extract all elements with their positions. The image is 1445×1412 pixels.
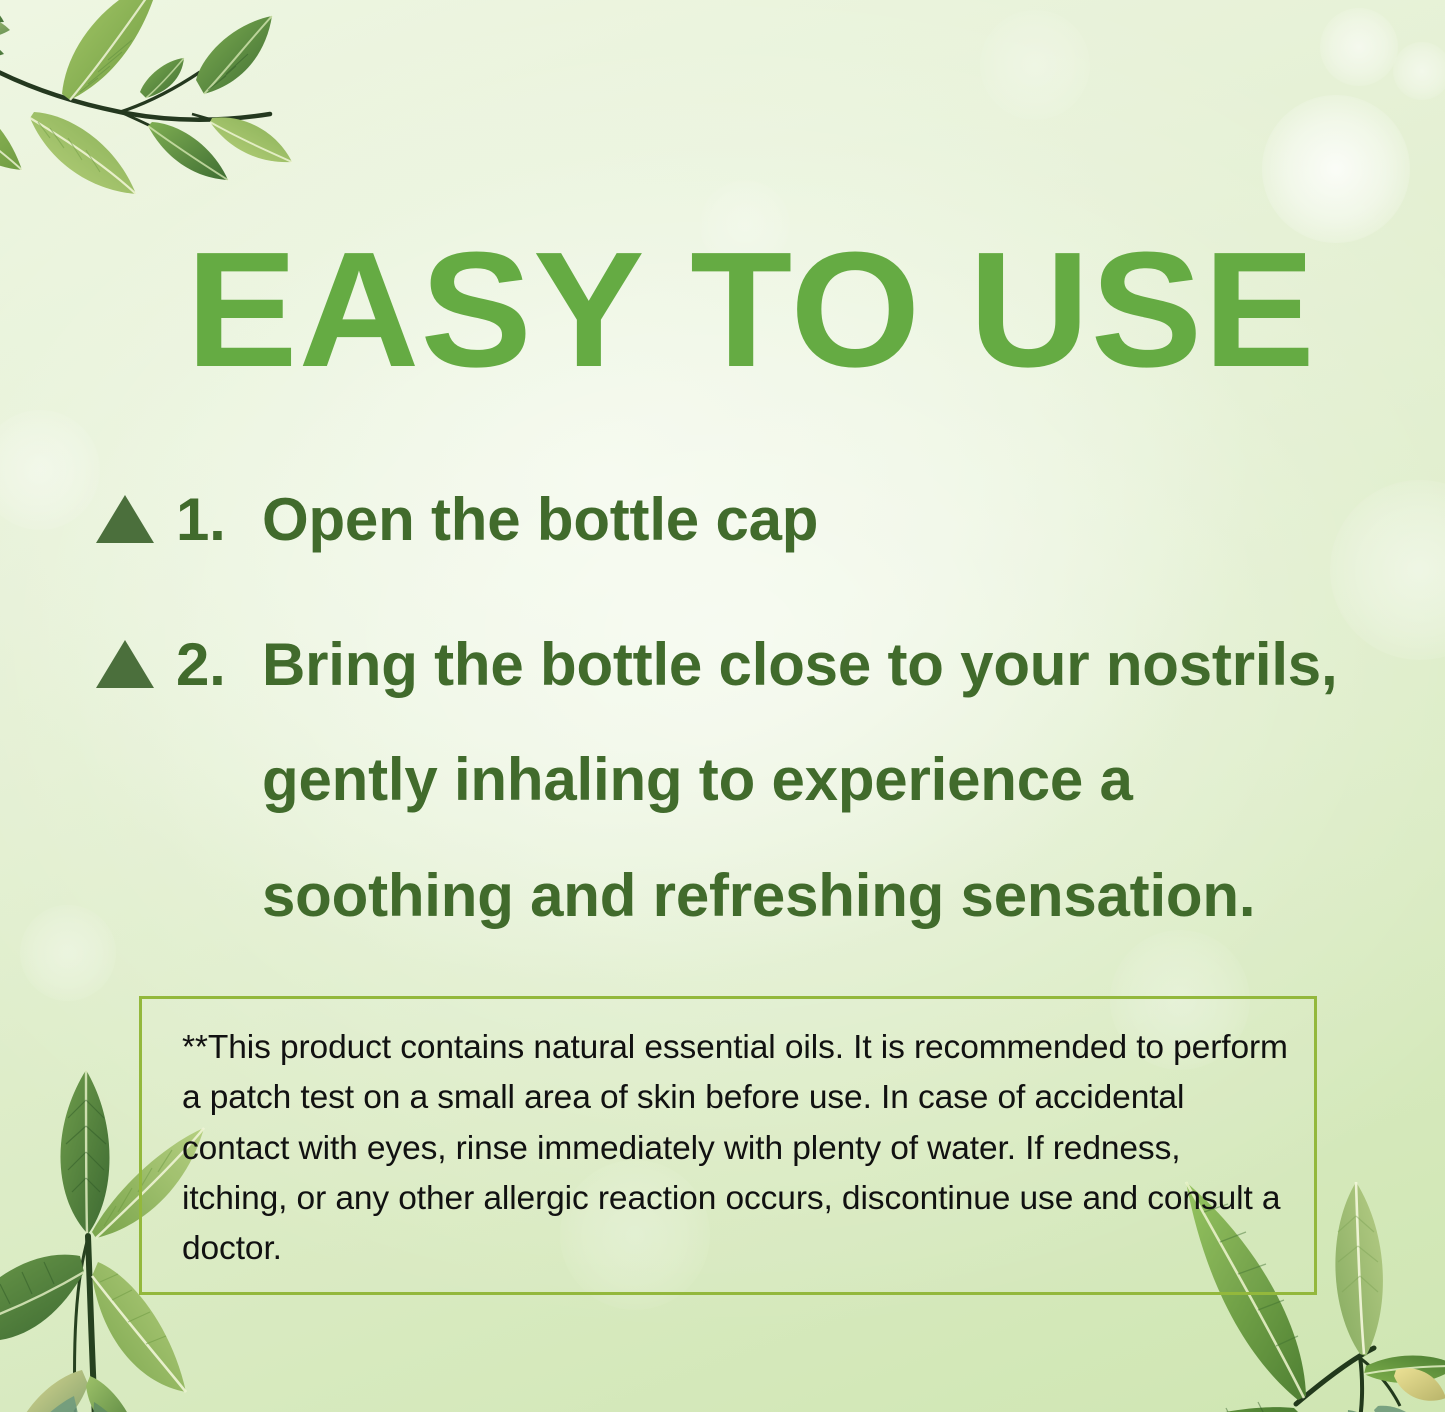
page-title: EASY TO USE (186, 228, 1328, 392)
notice-box: **This product contains natural essentia… (139, 996, 1317, 1295)
step-number: 2. (176, 607, 262, 722)
step-text: Open the bottle cap (262, 462, 1386, 577)
step-number: 1. (176, 462, 262, 577)
list-item: 2. Bring the bottle close to your nostri… (96, 607, 1386, 953)
triangle-bullet-icon (96, 640, 154, 688)
list-item: 1. Open the bottle cap (96, 462, 1386, 577)
triangle-bullet-icon (96, 495, 154, 543)
step-text: Bring the bottle close to your nostrils,… (262, 607, 1386, 953)
notice-text: **This product contains natural essentia… (182, 1023, 1292, 1274)
steps-list: 1. Open the bottle cap 2. Bring the bott… (96, 462, 1386, 953)
poster-canvas: EASY TO USE 1. Open the bottle cap 2. Br… (0, 0, 1445, 1412)
